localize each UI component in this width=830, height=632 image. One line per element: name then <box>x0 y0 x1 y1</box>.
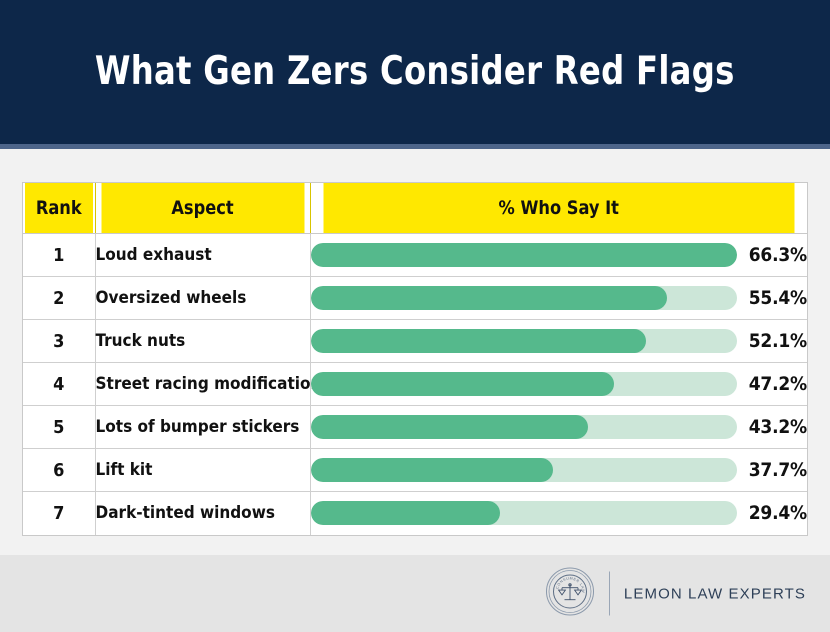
cell-rank: 5 <box>23 406 95 449</box>
bar-row: 29.4% <box>311 501 808 525</box>
bar-value-label: 43.2% <box>745 416 807 438</box>
table-row: 4Street racing modifications47.2% <box>23 363 807 406</box>
bar-value-label: 37.7% <box>745 459 807 481</box>
bar-value-label: 47.2% <box>745 373 807 395</box>
bar-row: 52.1% <box>311 329 808 353</box>
column-header-rank: Rank <box>25 183 93 234</box>
cell-aspect: Lift kit <box>95 449 310 492</box>
table-header: Rank Aspect % Who Say It <box>23 183 807 234</box>
cell-percent: 66.3% <box>310 234 807 277</box>
table-row: 2Oversized wheels55.4% <box>23 277 807 320</box>
bar-fill <box>311 372 615 396</box>
scales-of-justice-seal-icon: CONSUMER LAW EXPERTS <box>545 566 595 621</box>
bar-row: 66.3% <box>311 243 808 267</box>
bar-track <box>311 415 738 439</box>
cell-rank: 3 <box>23 320 95 363</box>
cell-aspect: Lots of bumper stickers <box>95 406 310 449</box>
bar-fill <box>311 243 738 267</box>
cell-aspect: Loud exhaust <box>95 234 310 277</box>
column-header-aspect: Aspect <box>100 183 304 234</box>
cell-rank: 7 <box>23 492 95 535</box>
bar-track <box>311 286 738 310</box>
bar-value-label: 52.1% <box>745 330 807 352</box>
cell-rank: 2 <box>23 277 95 320</box>
bar-value-label: 55.4% <box>745 287 807 309</box>
bar-fill <box>311 286 667 310</box>
cell-percent: 37.7% <box>310 449 807 492</box>
cell-rank: 1 <box>23 234 95 277</box>
bar-fill <box>311 329 646 353</box>
svg-text:CONSUMER LAW EXPERTS: CONSUMER LAW EXPERTS <box>545 566 585 593</box>
table-row: 1Loud exhaust66.3% <box>23 234 807 277</box>
brand-divider <box>609 572 610 616</box>
brand-name: LEMON LAW EXPERTS <box>624 585 806 602</box>
table-row: 3Truck nuts52.1% <box>23 320 807 363</box>
cell-aspect: Street racing modifications <box>95 363 310 406</box>
column-header-percent: % Who Say It <box>322 183 794 234</box>
cell-rank: 6 <box>23 449 95 492</box>
table-row: 6Lift kit37.7% <box>23 449 807 492</box>
brand-lockup: CONSUMER LAW EXPERTS LEMON LAW EXP <box>545 566 806 621</box>
ranking-table: Rank Aspect % Who Say It 1Loud exhaust66… <box>22 182 808 536</box>
cell-aspect: Dark-tinted windows <box>95 492 310 535</box>
bar-fill <box>311 415 589 439</box>
bar-track <box>311 329 738 353</box>
table-row: 5Lots of bumper stickers43.2% <box>23 406 807 449</box>
bar-row: 43.2% <box>311 415 808 439</box>
bar-row: 55.4% <box>311 286 808 310</box>
table-row: 7Dark-tinted windows29.4% <box>23 492 807 535</box>
cell-percent: 47.2% <box>310 363 807 406</box>
page-title: What Gen Zers Consider Red Flags <box>95 51 735 94</box>
table-body: 1Loud exhaust66.3%2Oversized wheels55.4%… <box>23 234 807 535</box>
bar-value-label: 29.4% <box>745 502 807 524</box>
footer: CONSUMER LAW EXPERTS LEMON LAW EXP <box>0 555 830 632</box>
cell-percent: 55.4% <box>310 277 807 320</box>
infographic-page: What Gen Zers Consider Red Flags Rank As… <box>0 0 830 632</box>
cell-percent: 43.2% <box>310 406 807 449</box>
bar-track <box>311 501 738 525</box>
cell-percent: 29.4% <box>310 492 807 535</box>
cell-rank: 4 <box>23 363 95 406</box>
header-banner: What Gen Zers Consider Red Flags <box>0 0 830 144</box>
data-table: Rank Aspect % Who Say It 1Loud exhaust66… <box>23 183 807 535</box>
bar-value-label: 66.3% <box>745 244 807 266</box>
cell-aspect: Truck nuts <box>95 320 310 363</box>
bar-track <box>311 243 738 267</box>
bar-row: 37.7% <box>311 458 808 482</box>
bar-fill <box>311 458 554 482</box>
bar-track <box>311 458 738 482</box>
cell-aspect: Oversized wheels <box>95 277 310 320</box>
cell-percent: 52.1% <box>310 320 807 363</box>
table-header-row: Rank Aspect % Who Say It <box>23 183 807 234</box>
bar-row: 47.2% <box>311 372 808 396</box>
bar-track <box>311 372 738 396</box>
bar-fill <box>311 501 500 525</box>
